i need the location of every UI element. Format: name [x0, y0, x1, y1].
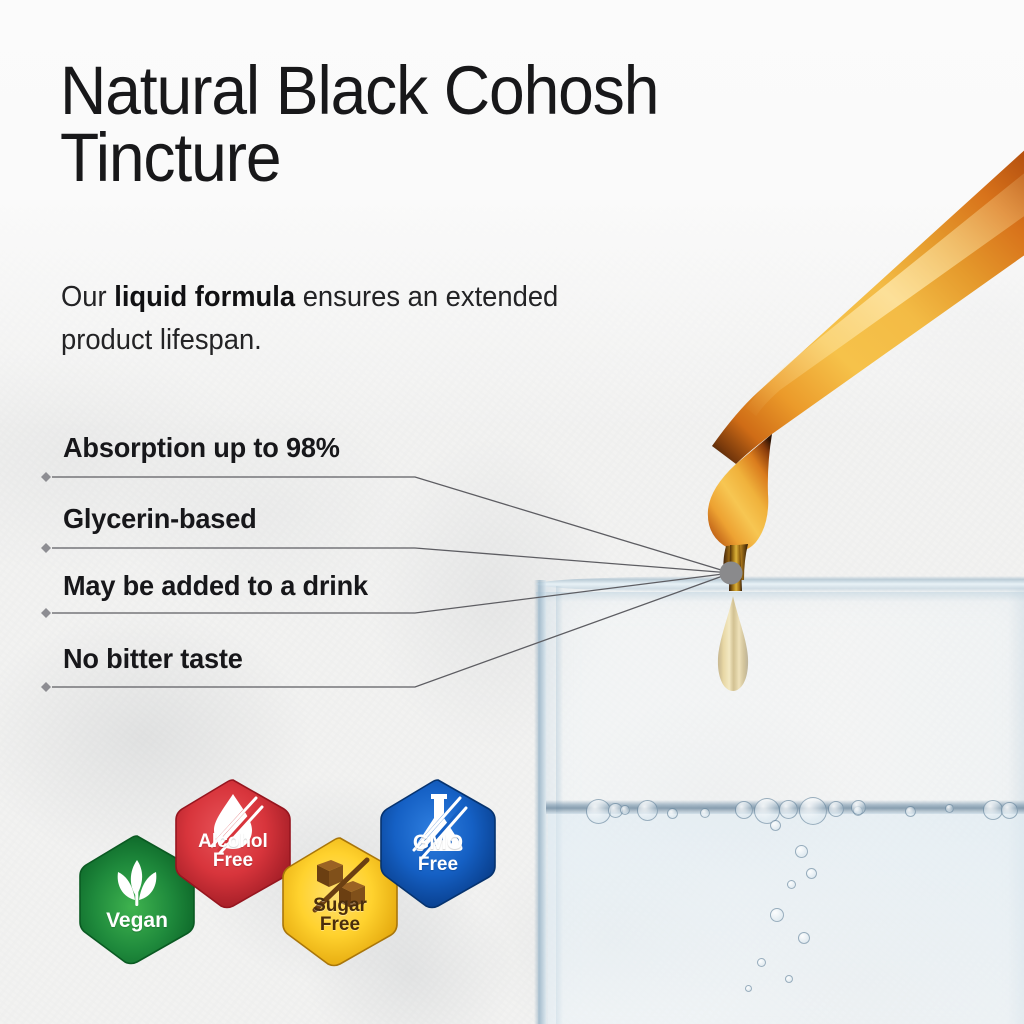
badge-gmo-free: GMOFree [379, 778, 497, 908]
certification-badges: Vegan [0, 0, 1024, 1024]
badge-alcohol-free: AlcoholFree [174, 778, 292, 908]
infographic-canvas: Natural Black Cohosh Tincture Our liquid… [0, 0, 1024, 1024]
